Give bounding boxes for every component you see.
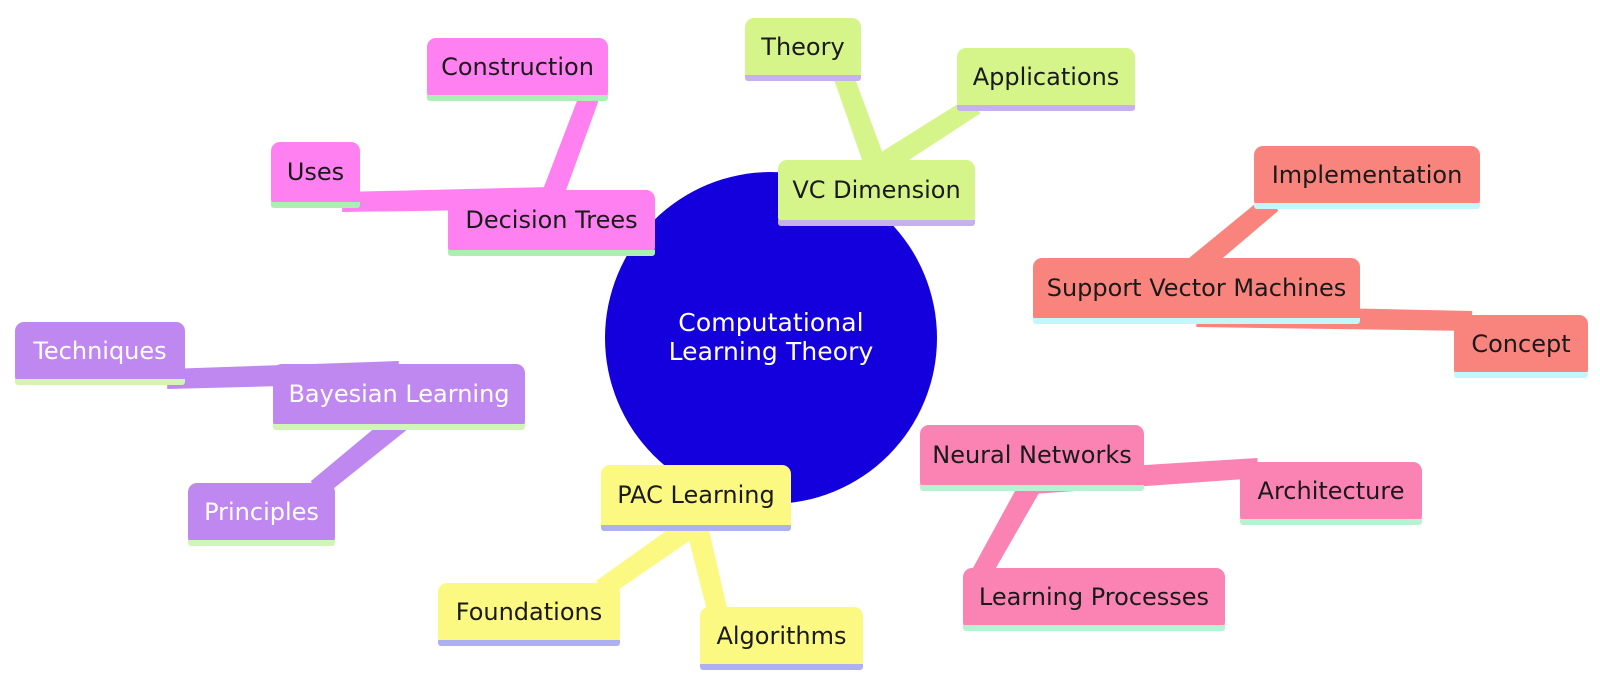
node-accent-underline: [15, 379, 185, 385]
node-pac-learning[interactable]: PAC Learning: [601, 465, 791, 531]
node-implementation[interactable]: Implementation: [1254, 146, 1480, 209]
node-accent-underline: [963, 625, 1225, 631]
node-accent-underline: [601, 525, 791, 531]
node-layer: Computational Learning TheoryDecision Tr…: [0, 0, 1600, 698]
node-accent-underline: [1240, 519, 1422, 525]
node-vc-dimension[interactable]: VC Dimension: [778, 160, 975, 226]
node-accent-underline: [778, 220, 975, 226]
node-label-theory: Theory: [761, 33, 844, 61]
node-techniques[interactable]: Techniques: [15, 322, 185, 385]
node-algorithms[interactable]: Algorithms: [700, 607, 863, 670]
node-decision-trees[interactable]: Decision Trees: [448, 190, 655, 256]
node-accent-underline: [1454, 372, 1588, 378]
mindmap-canvas: Computational Learning TheoryDecision Tr…: [0, 0, 1600, 698]
node-label-concept: Concept: [1471, 330, 1570, 358]
node-accent-underline: [448, 250, 655, 256]
node-neural-networks[interactable]: Neural Networks: [920, 425, 1144, 491]
node-accent-underline: [957, 105, 1135, 111]
node-foundations[interactable]: Foundations: [438, 583, 620, 646]
node-accent-underline: [745, 75, 861, 81]
node-learning-processes[interactable]: Learning Processes: [963, 568, 1225, 631]
node-bayesian-learning[interactable]: Bayesian Learning: [273, 364, 525, 430]
node-label-architecture: Architecture: [1258, 477, 1405, 505]
node-label-pac-learning: PAC Learning: [617, 481, 775, 509]
node-accent-underline: [427, 95, 608, 101]
node-architecture[interactable]: Architecture: [1240, 462, 1422, 525]
node-applications[interactable]: Applications: [957, 48, 1135, 111]
node-label-principles: Principles: [204, 498, 319, 526]
node-accent-underline: [920, 485, 1144, 491]
node-theory[interactable]: Theory: [745, 18, 861, 81]
node-label-algorithms: Algorithms: [716, 622, 846, 650]
node-label-bayesian-learning: Bayesian Learning: [288, 380, 509, 408]
node-support-vector-machines[interactable]: Support Vector Machines: [1033, 258, 1360, 324]
node-label-vc-dimension: VC Dimension: [792, 176, 960, 204]
node-uses[interactable]: Uses: [271, 142, 360, 208]
node-label-support-vector-machines: Support Vector Machines: [1047, 274, 1347, 302]
node-label-decision-trees: Decision Trees: [465, 206, 637, 234]
node-label-applications: Applications: [973, 63, 1120, 91]
node-label-construction: Construction: [441, 53, 594, 81]
node-accent-underline: [273, 424, 525, 430]
node-label-neural-networks: Neural Networks: [932, 441, 1132, 469]
node-accent-underline: [1254, 203, 1480, 209]
node-accent-underline: [700, 664, 863, 670]
node-accent-underline: [1033, 318, 1360, 324]
node-label-foundations: Foundations: [456, 598, 602, 626]
node-label-uses: Uses: [287, 158, 344, 186]
node-accent-underline: [438, 640, 620, 646]
node-label-techniques: Techniques: [33, 337, 166, 365]
node-principles[interactable]: Principles: [188, 483, 335, 546]
node-construction[interactable]: Construction: [427, 38, 608, 101]
center-node-label: Computational Learning Theory: [631, 309, 911, 367]
node-accent-underline: [271, 202, 360, 208]
node-accent-underline: [188, 540, 335, 546]
node-label-implementation: Implementation: [1272, 161, 1463, 189]
node-concept[interactable]: Concept: [1454, 315, 1588, 378]
node-label-learning-processes: Learning Processes: [979, 583, 1209, 611]
